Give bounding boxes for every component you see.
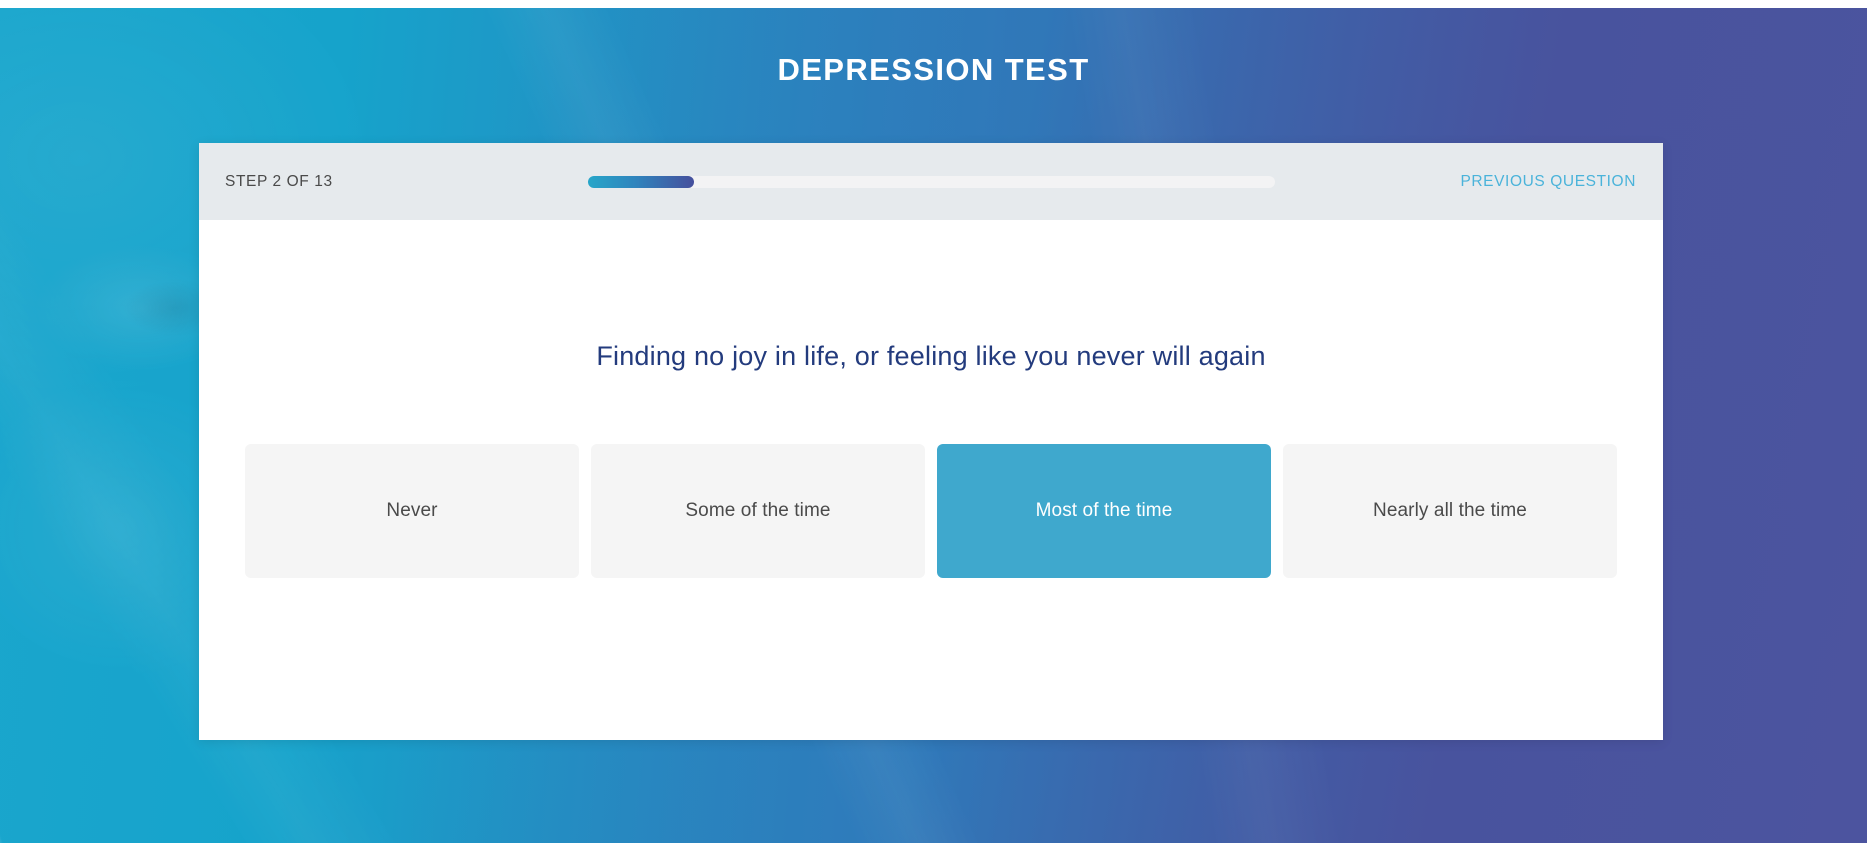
page-title: DEPRESSION TEST [0,52,1867,88]
step-indicator: STEP 2 OF 13 [225,173,333,191]
answer-option-4[interactable]: Nearly all the time [1283,444,1617,578]
progress-bar [588,176,1275,188]
answer-option-1[interactable]: Never [245,444,579,578]
quiz-header-bar: STEP 2 OF 13 PREVIOUS QUESTION [199,143,1663,220]
answer-option-label: Some of the time [685,500,830,522]
answer-option-3[interactable]: Most of the time [937,444,1271,578]
answer-option-label: Never [386,500,437,522]
answer-option-label: Most of the time [1036,500,1173,522]
previous-question-button[interactable]: PREVIOUS QUESTION [1460,173,1636,191]
page-root: DEPRESSION TEST STEP 2 OF 13 PREVIOUS QU… [0,0,1867,843]
progress-fill [588,176,694,188]
question-text: Finding no joy in life, or feeling like … [199,341,1663,372]
answer-option-2[interactable]: Some of the time [591,444,925,578]
quiz-body: Finding no joy in life, or feeling like … [199,220,1663,740]
quiz-card: STEP 2 OF 13 PREVIOUS QUESTION Finding n… [199,143,1663,740]
answer-options-list: NeverSome of the timeMost of the timeNea… [245,444,1617,578]
answer-option-label: Nearly all the time [1373,500,1527,522]
